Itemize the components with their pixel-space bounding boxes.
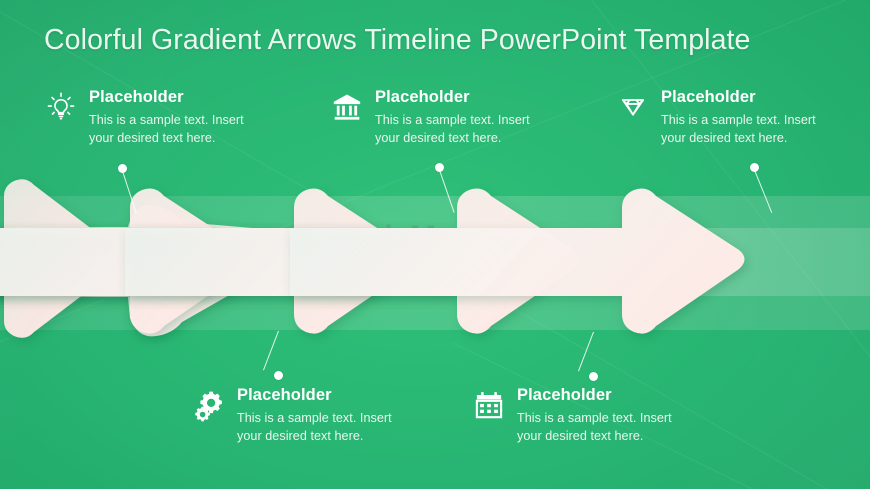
- step-body: This is a sample text. Insert your desir…: [517, 410, 677, 445]
- arrow-shape-1-body: [0, 188, 253, 333]
- arrow-shape-0: [0, 231, 112, 293]
- timeline-step-4[interactable]: Placeholder This is a sample text. Inser…: [472, 386, 677, 445]
- slidemodel-watermark: SlideModel .com: [296, 212, 546, 262]
- background-accent-line: [0, 0, 870, 489]
- timeline-step-2[interactable]: Placeholder This is a sample text. Inser…: [192, 386, 397, 445]
- arrow-band-main: [0, 228, 870, 296]
- connector-line: [263, 331, 279, 371]
- step-heading: Placeholder: [89, 88, 249, 106]
- background-gradient-overlay: [0, 0, 870, 489]
- connector-line: [122, 171, 137, 213]
- gears-icon: [192, 388, 226, 422]
- step-body: This is a sample text. Insert your desir…: [237, 410, 397, 445]
- step-body: This is a sample text. Insert your desir…: [89, 112, 249, 147]
- watermark-logo-icon: [296, 221, 329, 254]
- arrow-band-lower: [0, 296, 870, 330]
- arrow-band-upper: [0, 196, 870, 228]
- timeline-step-1[interactable]: Placeholder This is a sample text. Inser…: [44, 88, 249, 147]
- connector-dot: [274, 371, 283, 380]
- arrow-shape-1: [10, 205, 296, 336]
- step-heading: Placeholder: [237, 386, 397, 404]
- watermark-suffix: .com: [506, 244, 534, 258]
- connector-line: [439, 170, 455, 213]
- step-heading: Placeholder: [375, 88, 535, 106]
- connector-dot: [589, 372, 598, 381]
- step-body: This is a sample text. Insert your desir…: [661, 112, 821, 147]
- timeline-step-3[interactable]: Placeholder This is a sample text. Inser…: [330, 88, 535, 147]
- arrow-timeline-graphic: [0, 0, 870, 489]
- connector-line: [578, 332, 594, 372]
- slide-canvas: Colorful Gradient Arrows Timeline PowerP…: [0, 0, 870, 489]
- lightbulb-icon: [44, 90, 78, 124]
- step-heading: Placeholder: [661, 88, 821, 106]
- arrow-shape-2-body: [0, 188, 417, 333]
- arrow-shape-4-body: [290, 188, 745, 333]
- watermark-brand: SlideModel: [336, 219, 499, 256]
- timeline-step-5[interactable]: Placeholder This is a sample text. Inser…: [616, 88, 821, 147]
- arrow-shape-3-body: [125, 188, 580, 333]
- slide-title: Colorful Gradient Arrows Timeline PowerP…: [44, 24, 751, 57]
- bank-icon: [330, 90, 364, 124]
- arrow-shape-0-body: [0, 179, 123, 338]
- calendar-icon: [472, 388, 506, 422]
- connector-line: [754, 170, 772, 213]
- step-body: This is a sample text. Insert your desir…: [375, 112, 535, 147]
- step-heading: Placeholder: [517, 386, 677, 404]
- diamond-icon: [616, 90, 650, 124]
